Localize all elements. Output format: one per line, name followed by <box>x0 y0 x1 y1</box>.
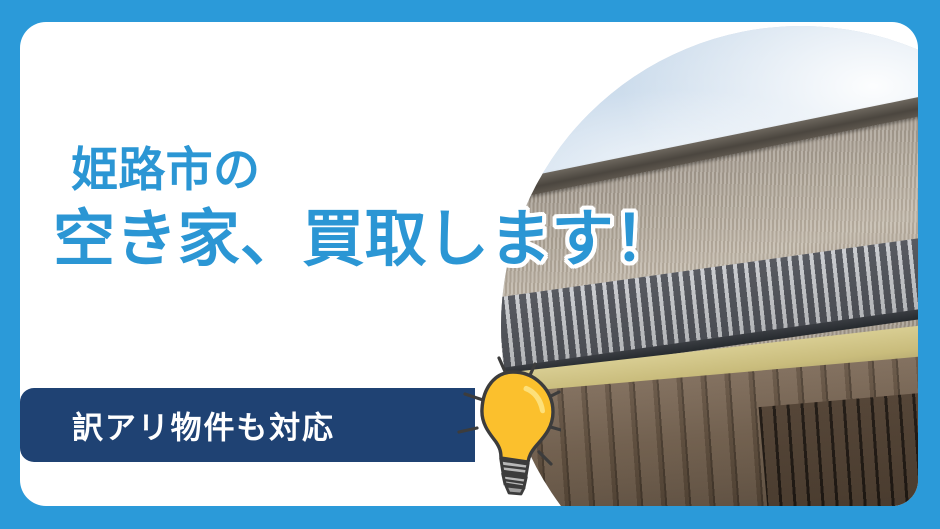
white-card: 姫路市の 空き家、買取します！ 訳アリ物件も対応 <box>20 22 918 506</box>
headline-line-2: 空き家、買取します！ <box>53 205 676 274</box>
photo-wall-shadow <box>759 389 918 506</box>
banner-root: 姫路市の 空き家、買取します！ 訳アリ物件も対応 <box>0 0 940 529</box>
status-badge-label: 訳アリ物件も対応 <box>72 403 335 448</box>
lightbulb-icon <box>457 356 561 496</box>
headline: 姫路市の 空き家、買取します！ <box>53 144 676 274</box>
headline-line-1: 姫路市の <box>71 144 676 197</box>
status-badge: 訳アリ物件も対応 <box>20 388 475 462</box>
